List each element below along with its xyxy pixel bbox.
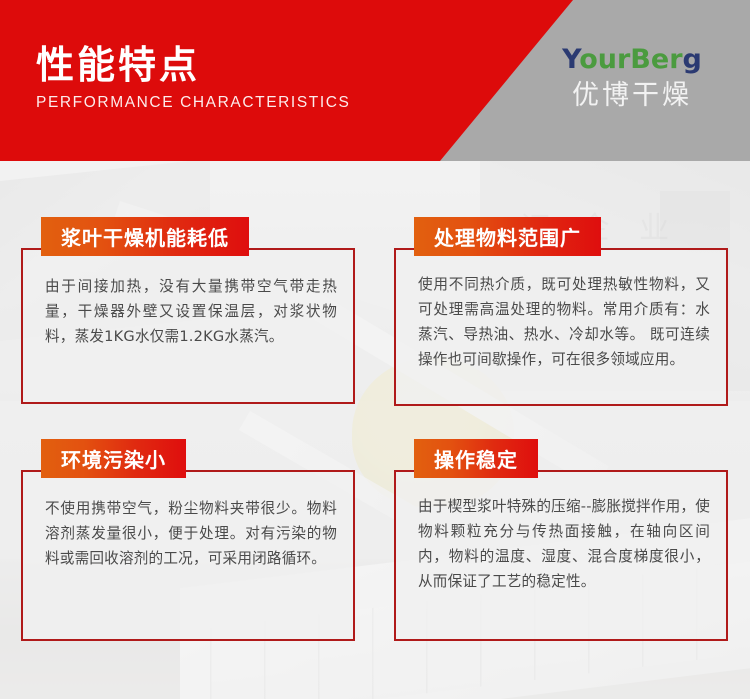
feature-card-2-title: 处理物料范围广 [414, 217, 601, 256]
page-subtitle: PERFORMANCE CHARACTERISTICS [36, 94, 350, 112]
feature-card-4-body: 由于楔型浆叶特殊的压缩--膨胀搅拌作用，使物料颗粒充分与传热面接触，在轴向区间内… [396, 472, 726, 604]
brand-logo: YourBerg 优博干燥 [542, 46, 722, 109]
feature-card-3: 不使用携带空气，粉尘物料夹带很少。物料溶剂蒸发量很小，便于处理。对有污染的物料或… [21, 470, 355, 641]
brand-letter-g: g [683, 44, 702, 75]
brand-letter-o-leaf: ourBer [579, 44, 682, 75]
page-title: 性能特点 [36, 44, 350, 87]
header-title-group: 性能特点 PERFORMANCE CHARACTERISTICS [36, 44, 350, 112]
feature-card-1: 由于间接加热，没有大量携带空气带走热量，干燥器外壁又设置保温层，对浆状物料，蒸发… [21, 248, 355, 404]
feature-card-3-body: 不使用携带空气，粉尘物料夹带很少。物料溶剂蒸发量很小，便于处理。对有污染的物料或… [23, 472, 353, 581]
brand-letter-y: Y [562, 44, 579, 75]
feature-card-2: 使用不同热介质，既可处理热敏性物料，又可处理需高温处理的物料。常用介质有：水蒸汽… [394, 248, 728, 406]
feature-card-2-body: 使用不同热介质，既可处理热敏性物料，又可处理需高温处理的物料。常用介质有：水蒸汽… [396, 250, 726, 382]
page-header: 性能特点 PERFORMANCE CHARACTERISTICS YourBer… [0, 0, 750, 161]
feature-card-4-title: 操作稳定 [414, 439, 538, 478]
feature-card-1-body: 由于间接加热，没有大量携带空气带走热量，干燥器外壁又设置保温层，对浆状物料，蒸发… [23, 250, 353, 359]
feature-card-4: 由于楔型浆叶特殊的压缩--膨胀搅拌作用，使物料颗粒充分与传热面接触，在轴向区间内… [394, 470, 728, 641]
feature-card-1-title: 浆叶干燥机能耗低 [41, 217, 249, 256]
feature-card-3-title: 环境污染小 [41, 439, 186, 478]
page-root: 证 企 业 性能特点 PERFORMANCE CHARACTERISTICS Y… [0, 0, 750, 699]
brand-logo-latin: YourBerg [542, 46, 722, 73]
brand-logo-cn: 优博干燥 [542, 82, 722, 109]
